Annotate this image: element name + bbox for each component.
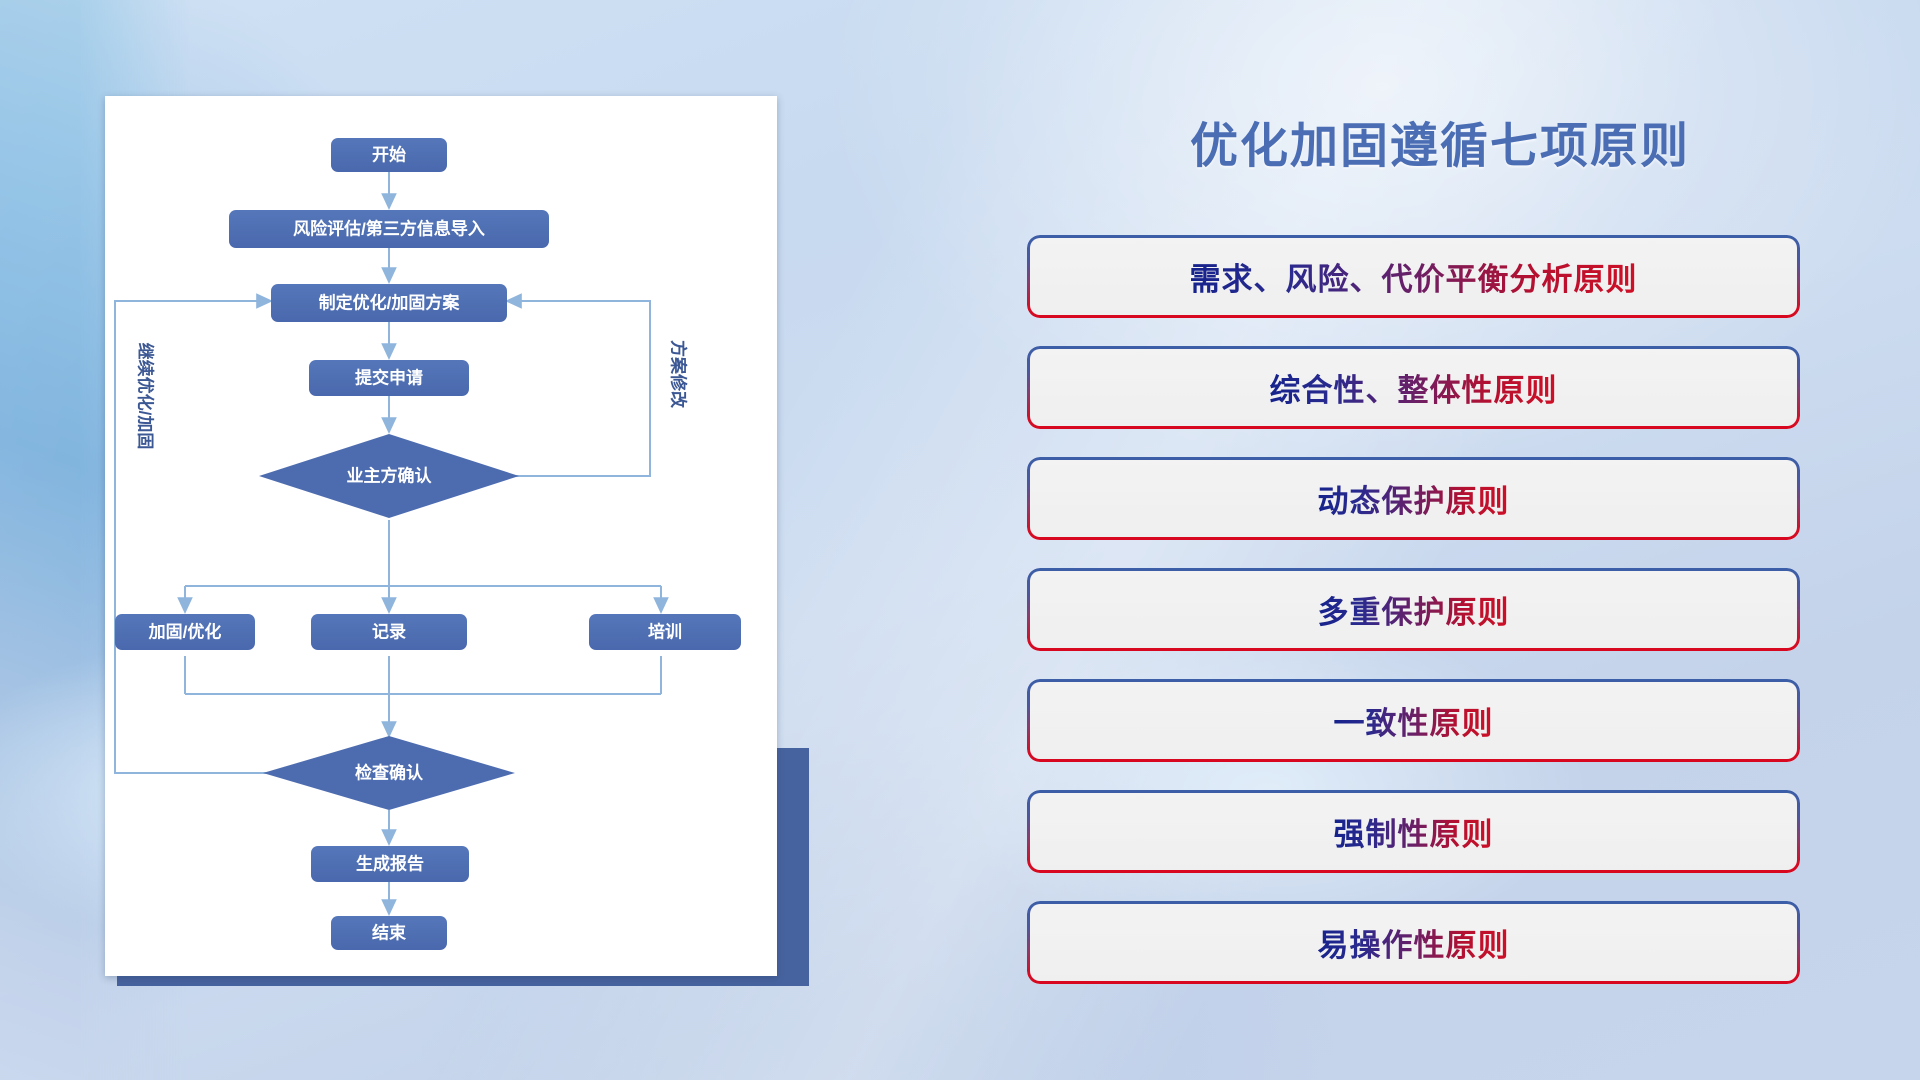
flow-node-risk-assessment-label: 风险评估/第三方信息导入 <box>293 218 485 238</box>
flow-node-risk-assessment[interactable]: 风险评估/第三方信息导入 <box>229 210 549 248</box>
flow-node-report[interactable]: 生成报告 <box>311 846 469 882</box>
flowchart-panel: 开始 风险评估/第三方信息导入 制定优化/加固方案 提交申请 业主方确认 <box>105 96 777 976</box>
flow-node-owner-confirm[interactable]: 业主方确认 <box>259 434 519 518</box>
flow-node-submit-label: 提交申请 <box>355 367 423 387</box>
page-title: 优化加固遵循七项原则 <box>1000 106 1880 176</box>
principle-card-4[interactable]: 多重保护原则 <box>1027 568 1800 651</box>
flow-node-report-label: 生成报告 <box>356 853 424 873</box>
flow-node-plan-label: 制定优化/加固方案 <box>319 292 461 312</box>
flow-nodes: 开始 风险评估/第三方信息导入 制定优化/加固方案 提交申请 业主方确认 <box>115 138 741 950</box>
principle-label-2: 综合性、整体性原则 <box>1270 365 1558 410</box>
flow-node-start[interactable]: 开始 <box>331 138 447 172</box>
principle-label-7: 易操作性原则 <box>1318 920 1510 965</box>
principle-card-7[interactable]: 易操作性原则 <box>1027 901 1800 984</box>
flow-node-record-label: 记录 <box>372 622 406 641</box>
flow-node-check-confirm[interactable]: 检查确认 <box>263 736 515 810</box>
principle-label-4: 多重保护原则 <box>1318 587 1510 632</box>
flow-node-submit[interactable]: 提交申请 <box>309 360 469 396</box>
flow-node-start-label: 开始 <box>372 144 406 164</box>
flowchart-diagram: 开始 风险评估/第三方信息导入 制定优化/加固方案 提交申请 业主方确认 <box>105 96 777 976</box>
flow-node-harden[interactable]: 加固/优化 <box>115 614 255 650</box>
flow-node-record[interactable]: 记录 <box>311 614 467 650</box>
principle-card-5[interactable]: 一致性原则 <box>1027 679 1800 762</box>
flow-edge-label-continue-optimize: 继续优化/加固 <box>136 343 156 450</box>
principle-card-3[interactable]: 动态保护原则 <box>1027 457 1800 540</box>
flow-node-train-label: 培训 <box>648 621 682 641</box>
flow-node-end[interactable]: 结束 <box>331 916 447 950</box>
principle-card-6[interactable]: 强制性原则 <box>1027 790 1800 873</box>
principle-label-5: 一致性原则 <box>1334 698 1494 743</box>
principle-label-3: 动态保护原则 <box>1318 476 1510 521</box>
principle-card-1[interactable]: 需求、风险、代价平衡分析原则 <box>1027 235 1800 318</box>
flow-edge-label-plan-revision: 方案修改 <box>669 340 689 409</box>
flow-node-check-confirm-label: 检查确认 <box>355 762 424 782</box>
principle-label-1: 需求、风险、代价平衡分析原则 <box>1190 254 1638 299</box>
flow-node-train[interactable]: 培训 <box>589 614 741 650</box>
flow-node-owner-confirm-label: 业主方确认 <box>347 465 433 485</box>
principles-column: 优化加固遵循七项原则 需求、风险、代价平衡分析原则 综合性、整体性原则 动态保护… <box>1000 0 1920 1080</box>
flow-node-end-label: 结束 <box>372 922 406 942</box>
flow-node-harden-label: 加固/优化 <box>148 621 222 641</box>
flow-node-plan[interactable]: 制定优化/加固方案 <box>271 284 507 322</box>
principle-label-6: 强制性原则 <box>1334 809 1494 854</box>
principle-card-2[interactable]: 综合性、整体性原则 <box>1027 346 1800 429</box>
